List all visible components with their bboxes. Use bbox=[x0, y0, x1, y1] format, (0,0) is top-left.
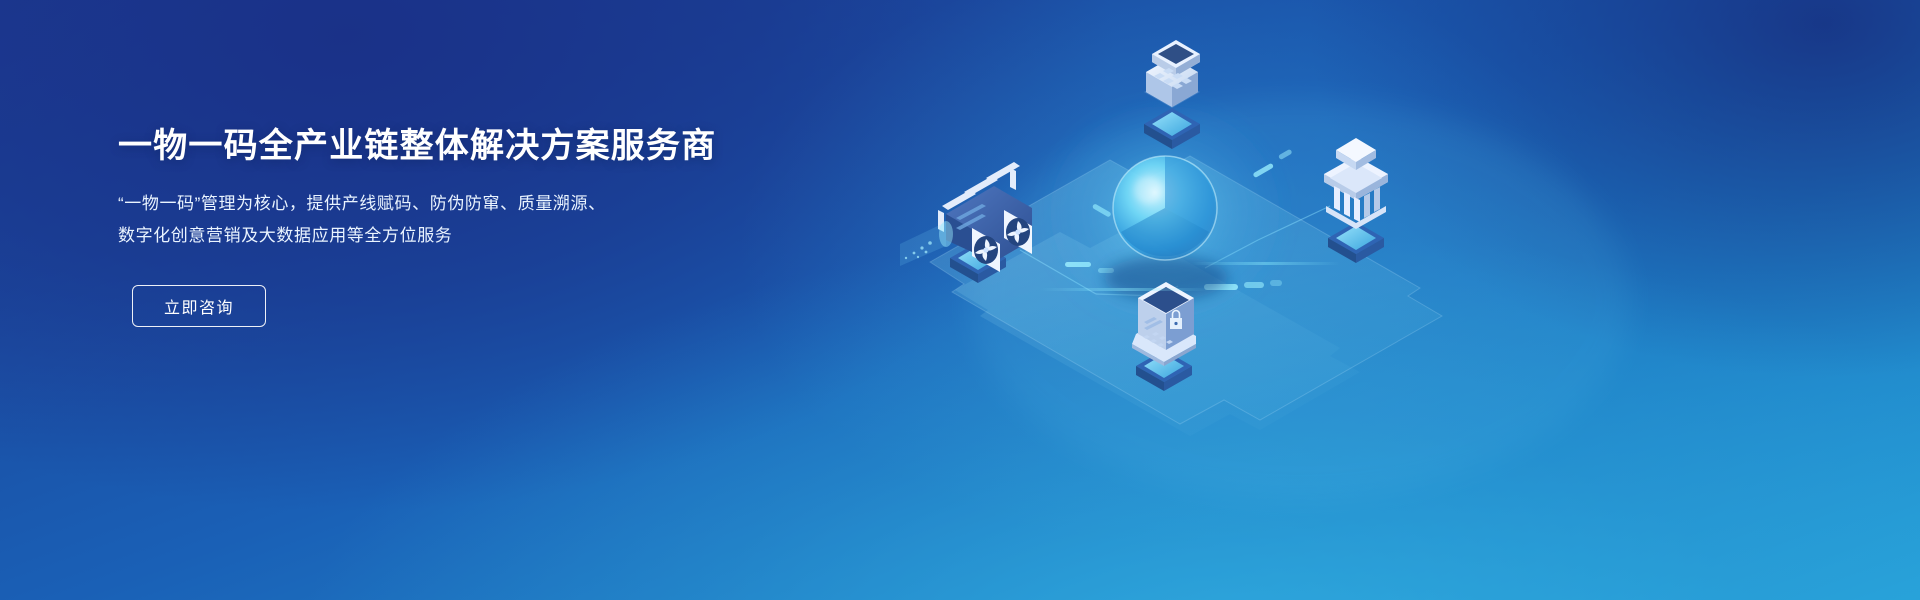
consult-now-button[interactable]: 立即咨询 bbox=[132, 285, 266, 327]
hero-copy: 一物一码全产业链整体解决方案服务商 “一物一码”管理为核心，提供产线赋码、防伪防… bbox=[118, 126, 838, 327]
subtitle-line-2: 数字化创意营销及大数据应用等全方位服务 bbox=[118, 221, 838, 251]
subtitle-line-1: “一物一码”管理为核心，提供产线赋码、防伪防窜、质量溯源、 bbox=[118, 189, 838, 219]
page-title: 一物一码全产业链整体解决方案服务商 bbox=[118, 126, 838, 167]
hero-banner: 一物一码全产业链整体解决方案服务商 “一物一码”管理为核心，提供产线赋码、防伪防… bbox=[0, 0, 1920, 600]
